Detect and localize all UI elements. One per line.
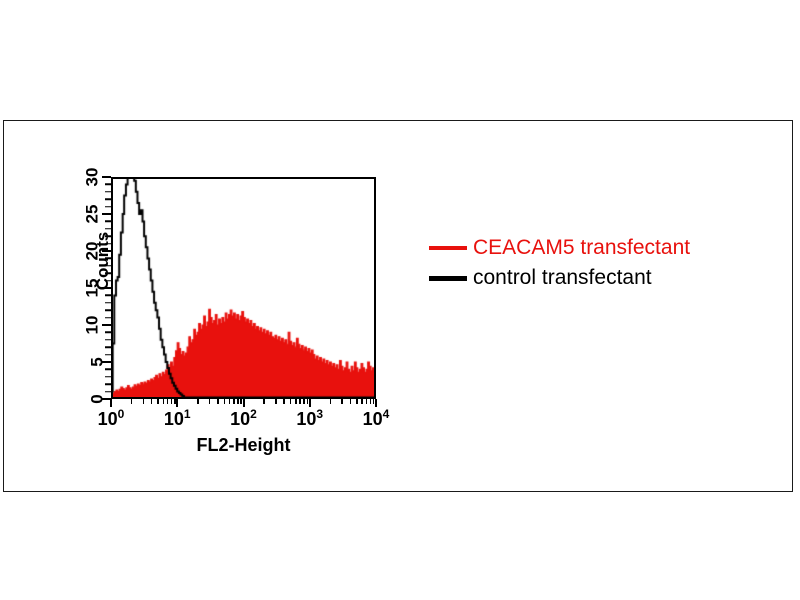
x-tick-minor — [157, 399, 159, 404]
x-tick-minor — [163, 399, 165, 404]
y-tick-minor — [105, 280, 111, 282]
x-tick-label: 101 — [164, 409, 191, 430]
x-tick-major — [243, 399, 245, 407]
x-tick-minor — [237, 399, 239, 404]
x-tick-major — [309, 399, 311, 407]
y-tick-major — [102, 176, 111, 178]
legend-line-marker-red — [429, 246, 467, 250]
x-tick-minor — [209, 399, 211, 404]
y-tick-major — [102, 213, 111, 215]
x-tick-minor — [366, 399, 368, 404]
x-tick-minor — [303, 399, 305, 404]
x-tick-minor — [217, 399, 219, 404]
x-tick-minor — [263, 399, 265, 404]
y-tick-minor — [105, 258, 111, 260]
y-tick-minor — [105, 243, 111, 245]
x-tick-label: 103 — [296, 409, 323, 430]
y-tick-minor — [105, 354, 111, 356]
y-tick-minor — [105, 198, 111, 200]
y-tick-minor — [105, 265, 111, 267]
x-tick-minor — [283, 399, 285, 404]
y-tick-minor — [105, 317, 111, 319]
x-tick-minor — [350, 399, 352, 404]
legend-item-control: control transfectant — [429, 263, 690, 293]
legend-label-control: control transfectant — [473, 266, 652, 290]
x-tick-label: 102 — [230, 409, 257, 430]
x-tick-minor — [341, 399, 343, 404]
x-tick-label: 100 — [98, 409, 125, 430]
y-tick-minor — [105, 221, 111, 223]
y-tick-minor — [105, 228, 111, 230]
y-tick-label: 25 — [83, 205, 103, 224]
x-tick-major — [176, 399, 178, 407]
y-tick-minor — [105, 376, 111, 378]
y-tick-label: 10 — [83, 316, 103, 335]
y-tick-minor — [105, 206, 111, 208]
y-tick-label: 30 — [83, 168, 103, 187]
y-tick-minor — [105, 295, 111, 297]
x-tick-minor — [330, 399, 332, 404]
y-tick-minor — [105, 332, 111, 334]
x-tick-label: 104 — [363, 409, 390, 430]
y-tick-minor — [105, 383, 111, 385]
x-tick-minor — [197, 399, 199, 404]
x-tick-minor — [224, 399, 226, 404]
y-tick-minor — [105, 184, 111, 186]
y-tick-minor — [105, 369, 111, 371]
y-tick-major — [102, 250, 111, 252]
x-axis-title: FL2-Height — [197, 435, 291, 456]
legend-item-ceacam5: CEACAM5 transfectant — [429, 233, 690, 263]
histogram-canvas — [111, 177, 376, 399]
y-tick-minor — [105, 391, 111, 393]
x-tick-minor — [143, 399, 145, 404]
y-tick-major — [102, 324, 111, 326]
y-tick-minor — [105, 309, 111, 311]
x-tick-minor — [171, 399, 173, 404]
y-tick-minor — [105, 235, 111, 237]
x-tick-minor — [361, 399, 363, 404]
y-tick-minor — [105, 272, 111, 274]
x-tick-major — [375, 399, 377, 407]
y-tick-minor — [105, 302, 111, 304]
x-tick-minor — [370, 399, 372, 404]
x-tick-minor — [290, 399, 292, 404]
x-tick-minor — [233, 399, 235, 404]
x-tick-minor — [295, 399, 297, 404]
y-tick-label: 15 — [83, 279, 103, 298]
x-tick-minor — [275, 399, 277, 404]
legend: CEACAM5 transfectant control transfectan… — [429, 233, 690, 293]
x-tick-minor — [131, 399, 133, 404]
y-tick-minor — [105, 346, 111, 348]
x-tick-minor — [299, 399, 301, 404]
legend-label-ceacam5: CEACAM5 transfectant — [473, 236, 690, 260]
y-tick-label: 5 — [87, 357, 107, 366]
y-tick-label: 20 — [83, 242, 103, 261]
legend-line-marker-black — [429, 276, 467, 281]
y-tick-minor — [105, 339, 111, 341]
figure-outer-border: Counts 051015202530 100101102103104 FL2-… — [3, 120, 793, 492]
y-tick-minor — [105, 191, 111, 193]
y-tick-major — [102, 287, 111, 289]
x-tick-minor — [356, 399, 358, 404]
plot-area: Counts 051015202530 100101102103104 FL2-… — [111, 177, 376, 399]
x-tick-major — [110, 399, 112, 407]
x-tick-minor — [167, 399, 169, 404]
x-tick-minor — [229, 399, 231, 404]
x-tick-minor — [151, 399, 153, 404]
y-tick-label: 0 — [87, 394, 107, 403]
